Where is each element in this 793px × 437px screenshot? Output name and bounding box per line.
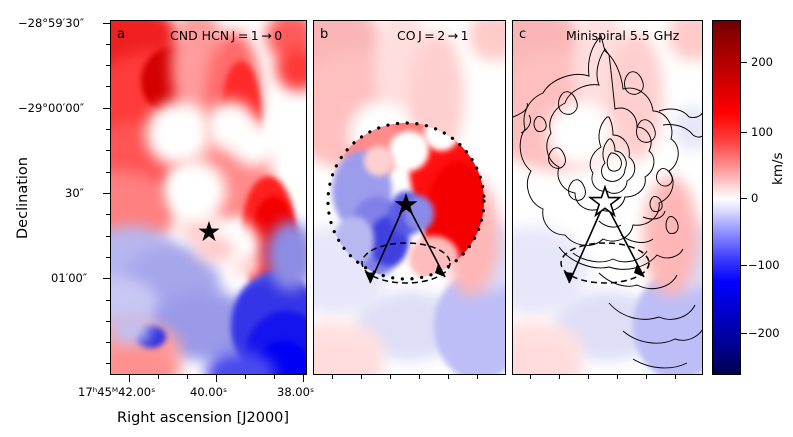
y-tick-major-2: [103, 193, 110, 194]
x-tick-major-2: [303, 375, 304, 382]
y-tick-minor: [106, 150, 110, 151]
y-tick-minor: [106, 44, 110, 45]
panel-b-letter: b: [320, 27, 328, 42]
y-tick-label-2: 30″: [65, 186, 84, 200]
sgr-a-star-marker: [198, 221, 219, 241]
x-tick-label-0: 17ʰ45ᴹ42.00ˢ: [78, 385, 155, 399]
colorbar-unit-label: km/s: [770, 152, 786, 185]
panel-c-contours: [513, 21, 703, 375]
x-axis-title: Right ascension [J2000]: [117, 410, 289, 426]
x-tick-minor: [448, 375, 449, 379]
x-tick-minor: [274, 375, 275, 379]
x-tick-minor: [559, 375, 560, 379]
y-tick-minor: [106, 86, 110, 87]
arrow-south-line: [370, 206, 404, 283]
y-tick-minor: [106, 172, 110, 173]
y-tick-major-1: [103, 108, 110, 109]
panel-c-title: Minispiral 5.5 GHz: [566, 28, 679, 43]
y-tick-label-3: 01′00″: [51, 271, 87, 285]
panel-a-letter: a: [117, 27, 125, 42]
x-tick-minor: [477, 375, 478, 379]
y-tick-minor: [106, 65, 110, 66]
x-tick-minor: [158, 375, 159, 379]
cbar-tick-neg200: [741, 333, 747, 334]
x-tick-minor: [646, 375, 647, 379]
x-tick-minor: [530, 375, 531, 379]
x-tick-label-2: 38.00ˢ: [277, 385, 314, 399]
x-tick-minor: [245, 375, 246, 379]
panel-c: [512, 20, 703, 375]
figure-canvas: a CND HCN J = 1 → 0 b CO J = 2 → 1 c Min…: [0, 0, 793, 437]
x-tick-minor: [588, 375, 589, 379]
dashed-ellipse: [561, 243, 649, 283]
arrow-south-line: [569, 206, 603, 283]
x-tick-minor: [390, 375, 391, 379]
y-tick-major-3: [103, 278, 110, 279]
x-tick-major-1: [216, 375, 217, 382]
x-tick-major-0: [129, 375, 130, 382]
y-axis-title: Declination: [15, 157, 31, 239]
panel-b-overlays: [314, 21, 506, 375]
cbar-tick-neg100: [741, 265, 747, 266]
arrow-south-head: [365, 272, 375, 283]
y-tick-minor: [106, 342, 110, 343]
y-tick-minor: [106, 214, 110, 215]
y-tick-minor: [106, 300, 110, 301]
cbar-tick-200: [741, 62, 747, 63]
colorbar: [712, 20, 741, 375]
x-tick-minor: [419, 375, 420, 379]
panel-b: [313, 20, 506, 375]
dashed-ellipse: [362, 243, 450, 283]
x-tick-minor: [675, 375, 676, 379]
cbar-label-100: 100: [751, 125, 773, 139]
y-tick-minor: [106, 257, 110, 258]
cbar-label-neg200: −200: [748, 326, 780, 340]
y-tick-major-0: [103, 23, 110, 24]
x-tick-minor: [361, 375, 362, 379]
y-tick-label-1: −29°00′00″: [18, 101, 84, 115]
panel-a-title: CND HCN J = 1 → 0: [170, 28, 282, 43]
cbar-tick-100: [741, 132, 747, 133]
y-tick-minor: [106, 363, 110, 364]
x-tick-minor: [187, 375, 188, 379]
cbar-label-0: 0: [751, 191, 758, 205]
y-tick-minor: [106, 236, 110, 237]
cbar-label-neg100: −100: [748, 258, 780, 272]
arrow-south-head: [564, 272, 574, 283]
x-tick-minor: [332, 375, 333, 379]
y-tick-label-0: −28°59′30″: [18, 16, 84, 30]
panel-c-letter: c: [519, 27, 526, 42]
arrow-south-east-line: [408, 206, 445, 277]
panel-a: [110, 20, 307, 375]
cbar-tick-0: [741, 198, 747, 199]
cbar-label-200: 200: [751, 55, 773, 69]
y-tick-minor: [106, 321, 110, 322]
x-tick-minor: [617, 375, 618, 379]
panel-b-title: CO J = 2 → 1: [397, 28, 469, 43]
y-tick-minor: [106, 129, 110, 130]
panel-a-markers: [111, 21, 307, 375]
x-tick-label-1: 40.00ˢ: [190, 385, 227, 399]
sgr-a-star-marker: [395, 193, 418, 215]
